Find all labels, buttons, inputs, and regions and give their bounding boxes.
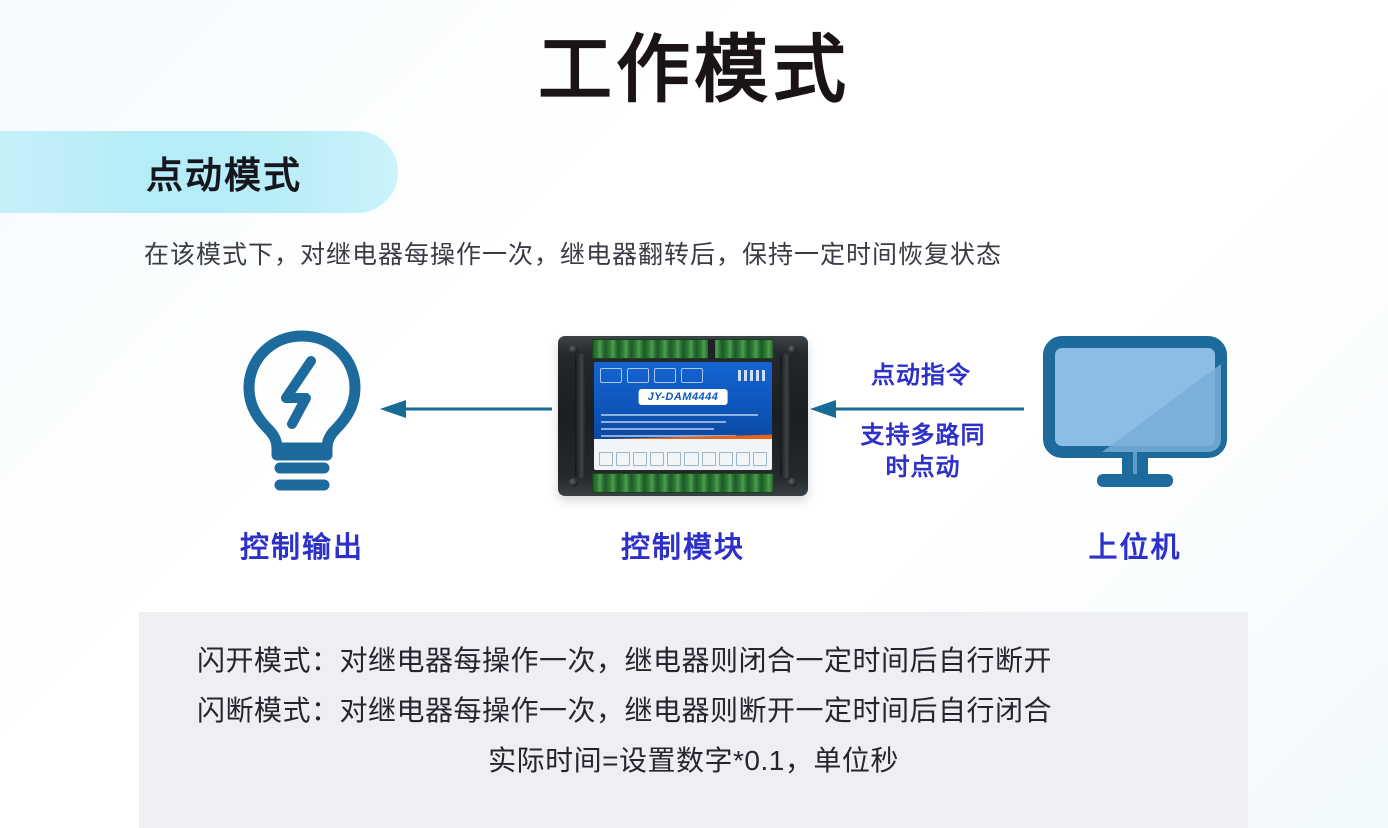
led-indicator [756, 370, 759, 381]
led-indicator [750, 370, 753, 381]
pin-label [702, 452, 716, 466]
section-badge-label: 点动模式 [146, 145, 302, 199]
monitor-icon [1040, 336, 1230, 496]
arrow-caption-multichannel-line1: 支持多路同 [838, 420, 1008, 452]
relay-outline-row [600, 368, 703, 383]
screw-hole [569, 345, 578, 354]
pin-label [667, 452, 681, 466]
module-model-label: JY-DAM4444 [639, 389, 728, 405]
screw-hole [569, 478, 578, 487]
lightbulb-icon [232, 324, 372, 502]
screw-hole [788, 345, 797, 354]
led-indicator [744, 370, 747, 381]
screw-hole [788, 478, 797, 487]
pin-label [633, 452, 647, 466]
relay-outline [627, 368, 649, 383]
node-label-module: 控制模块 [583, 524, 783, 566]
terminal-block-top [592, 339, 774, 359]
terminal-block-bottom [592, 473, 774, 493]
arrow-caption-multichannel: 支持多路同 时点动 [838, 420, 1008, 484]
module-housing: JY-DAM4444 [558, 336, 808, 496]
arrow-caption-multichannel-line2: 时点动 [838, 452, 1008, 484]
relay-module-image: JY-DAM4444 [558, 336, 808, 496]
pin-label [753, 452, 767, 466]
node-label-host: 上位机 [1035, 524, 1235, 566]
module-rail [575, 354, 586, 478]
pin-label [719, 452, 733, 466]
note-line-time-formula: 实际时间=设置数字*0.1，单位秒 [139, 736, 1248, 786]
terminal-gap [708, 339, 715, 359]
module-front-panel: JY-DAM4444 [594, 362, 772, 470]
pin-label-row [599, 452, 767, 466]
arrow-caption-jog-command: 点动指令 [846, 360, 996, 392]
pin-label [599, 452, 613, 466]
led-indicator [762, 370, 765, 381]
led-indicator [738, 370, 741, 381]
arrow-host-to-module [810, 398, 1024, 420]
mode-note-box: 闪开模式：对继电器每操作一次，继电器则闭合一定时间后自行断开 闪断模式：对继电器… [139, 612, 1248, 828]
module-rail [780, 354, 791, 478]
panel-white-area [594, 439, 772, 470]
mode-description: 在该模式下，对继电器每操作一次，继电器翻转后，保持一定时间恢复状态 [144, 237, 1002, 273]
pin-label [616, 452, 630, 466]
working-mode-diagram: JY-DAM4444 [0, 318, 1388, 568]
arrow-module-to-output [380, 398, 552, 420]
pin-label [650, 452, 664, 466]
section-badge: 点动模式 [0, 131, 398, 213]
relay-outline [654, 368, 676, 383]
led-indicator-row [738, 370, 765, 381]
note-line-flash-close: 闪断模式：对继电器每操作一次，继电器则断开一定时间后自行闭合 [139, 686, 1248, 736]
pin-label [684, 452, 698, 466]
note-line-flash-open: 闪开模式：对继电器每操作一次，继电器则闭合一定时间后自行断开 [139, 636, 1248, 686]
relay-outline [600, 368, 622, 383]
node-label-output: 控制输出 [202, 524, 402, 566]
page-title: 工作模式 [0, 22, 1388, 118]
pin-label [736, 452, 750, 466]
relay-outline [681, 368, 703, 383]
